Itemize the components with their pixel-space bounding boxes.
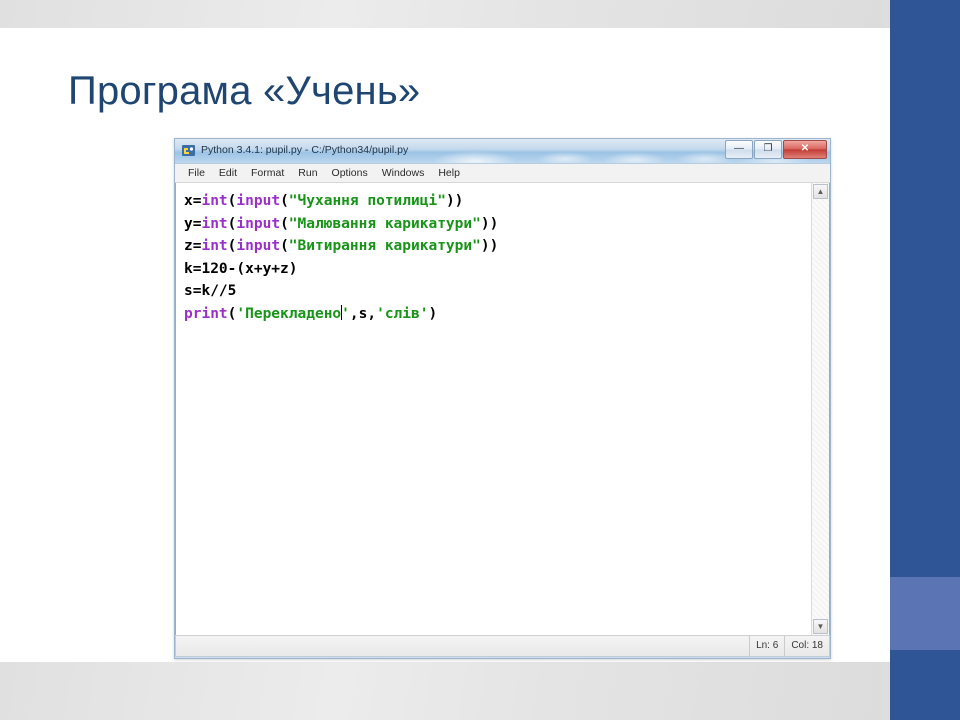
code-token-plain: s=k//5 [184,283,236,299]
code-token-plain: z= [184,238,201,254]
code-token-string: 'Перекладено [236,306,341,322]
status-line-number: Ln: 6 [749,636,784,656]
window-title-text: Python 3.4.1: pupil.py - C:/Python34/pup… [201,143,408,158]
code-token-keyword: int [201,238,227,254]
code-line: k=120-(x+y+z) [184,258,811,281]
code-token-keyword: input [236,216,280,232]
slide-bottom-band [0,662,890,720]
slide-canvas: Програма «Учень» Python 3.4.1: pupil.py … [0,0,960,720]
side-gap-bottom [882,662,890,720]
code-token-plain: ( [280,238,289,254]
code-token-plain: k=120-(x+y+z) [184,261,298,277]
code-token-keyword: int [201,193,227,209]
code-line: print('Перекладено',s,'слів') [184,303,811,326]
close-icon: ✕ [784,141,826,158]
code-token-plain: x= [184,193,201,209]
status-bar: Ln: 6 Col: 18 [175,635,830,657]
idle-editor-window: Python 3.4.1: pupil.py - C:/Python34/pup… [174,138,831,659]
menu-item-edit[interactable]: Edit [212,164,244,182]
code-token-keyword: int [201,216,227,232]
maximize-button[interactable]: ❐ [754,140,782,159]
code-token-plain: )) [481,216,498,232]
code-token-keyword: print [184,306,228,322]
minimize-button[interactable]: — [725,140,753,159]
minimize-icon: — [726,141,752,158]
python-idle-icon [181,143,196,158]
side-gap-top [882,0,890,28]
maximize-icon: ❐ [755,141,781,158]
editor-vertical-scrollbar[interactable]: ▲ ▼ [811,183,829,635]
code-token-string: "Витирання карикатури" [289,238,481,254]
code-line: x=int(input("Чухання потилиці")) [184,190,811,213]
code-token-plain: y= [184,216,201,232]
window-titlebar[interactable]: Python 3.4.1: pupil.py - C:/Python34/pup… [175,139,830,164]
chevron-down-icon: ▼ [814,620,827,633]
code-token-plain: ) [428,306,437,322]
slide-top-band [0,0,890,28]
scroll-down-button[interactable]: ▼ [813,619,828,634]
code-token-string: "Малювання карикатури" [289,216,481,232]
code-token-plain: ( [280,193,289,209]
code-token-keyword: input [236,193,280,209]
code-line: z=int(input("Витирання карикатури")) [184,235,811,258]
chevron-up-icon: ▲ [814,185,827,198]
page-title: Програма «Учень» [68,66,420,116]
code-line: y=int(input("Малювання карикатури")) [184,213,811,236]
menu-item-options[interactable]: Options [325,164,375,182]
menu-bar: FileEditFormatRunOptionsWindowsHelp [175,164,830,183]
code-line: s=k//5 [184,280,811,303]
menu-item-run[interactable]: Run [291,164,324,182]
menu-item-help[interactable]: Help [431,164,467,182]
code-token-plain: )) [481,238,498,254]
code-editor-text[interactable]: x=int(input("Чухання потилиці"))y=int(in… [176,183,811,635]
menu-item-windows[interactable]: Windows [375,164,432,182]
code-token-string: 'слів' [376,306,428,322]
code-token-string: ' [341,306,350,322]
close-button[interactable]: ✕ [783,140,827,159]
scroll-up-button[interactable]: ▲ [813,184,828,199]
code-token-keyword: input [236,238,280,254]
menu-item-file[interactable]: File [181,164,212,182]
editor-body: x=int(input("Чухання потилиці"))y=int(in… [175,183,830,635]
status-column-number: Col: 18 [784,636,829,656]
menu-item-format[interactable]: Format [244,164,291,182]
code-token-plain: ( [280,216,289,232]
slide-accent-block [890,577,960,650]
code-token-plain: )) [446,193,463,209]
window-controls: — ❐ ✕ [724,140,827,159]
code-token-plain: ,s, [350,306,376,322]
code-token-string: "Чухання потилиці" [289,193,446,209]
